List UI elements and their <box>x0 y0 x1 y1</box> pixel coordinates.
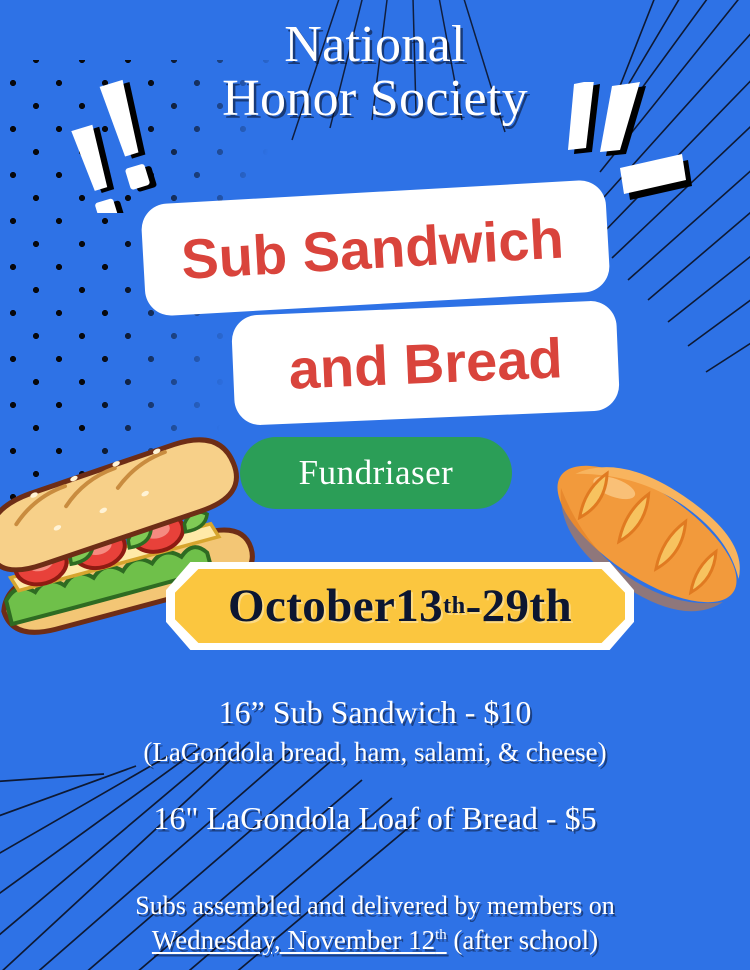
offer-sub-detail: (LaGondola bread, ham, salami, & cheese) <box>0 737 750 768</box>
date-month: October <box>228 579 395 633</box>
banner-sub-sandwich: Sub Sandwich <box>140 179 611 317</box>
footer-delivery-date: Wednesday, November 12th <box>152 925 447 955</box>
title-line-1: National <box>0 18 750 72</box>
date-badge-text: October 13th-29th <box>166 562 634 650</box>
banner-sub-label: Sub Sandwich <box>179 205 565 291</box>
date-day-start: 13 <box>395 579 443 633</box>
footer-line-2-tail: (after school) <box>447 925 598 955</box>
offer-bread-price: 16" LaGondola Loaf of Bread - $5 <box>0 800 750 837</box>
date-ordinal: th <box>443 592 466 620</box>
date-badge: October 13th-29th <box>166 562 634 650</box>
footer-delivery-date-text: Wednesday, November 12 <box>152 925 435 955</box>
title-line-2: Honor Society <box>0 72 750 126</box>
fundraiser-label: Fundriaser <box>299 453 454 493</box>
banner-and-bread: and Bread <box>231 300 620 426</box>
footer-line-2: Wednesday, November 12th (after school) <box>0 925 750 956</box>
date-day-end: -29th <box>466 579 572 633</box>
footer-delivery-date-ordinal: th <box>435 927 447 943</box>
footer-line-1: Subs assembled and delivered by members … <box>0 891 750 921</box>
fundraiser-badge: Fundriaser <box>240 437 512 509</box>
banner-bread-label: and Bread <box>287 325 563 401</box>
page-title: National Honor Society <box>0 18 750 126</box>
poster-canvas: National Honor Society <box>0 0 750 970</box>
offer-sub-price: 16” Sub Sandwich - $10 <box>0 694 750 731</box>
